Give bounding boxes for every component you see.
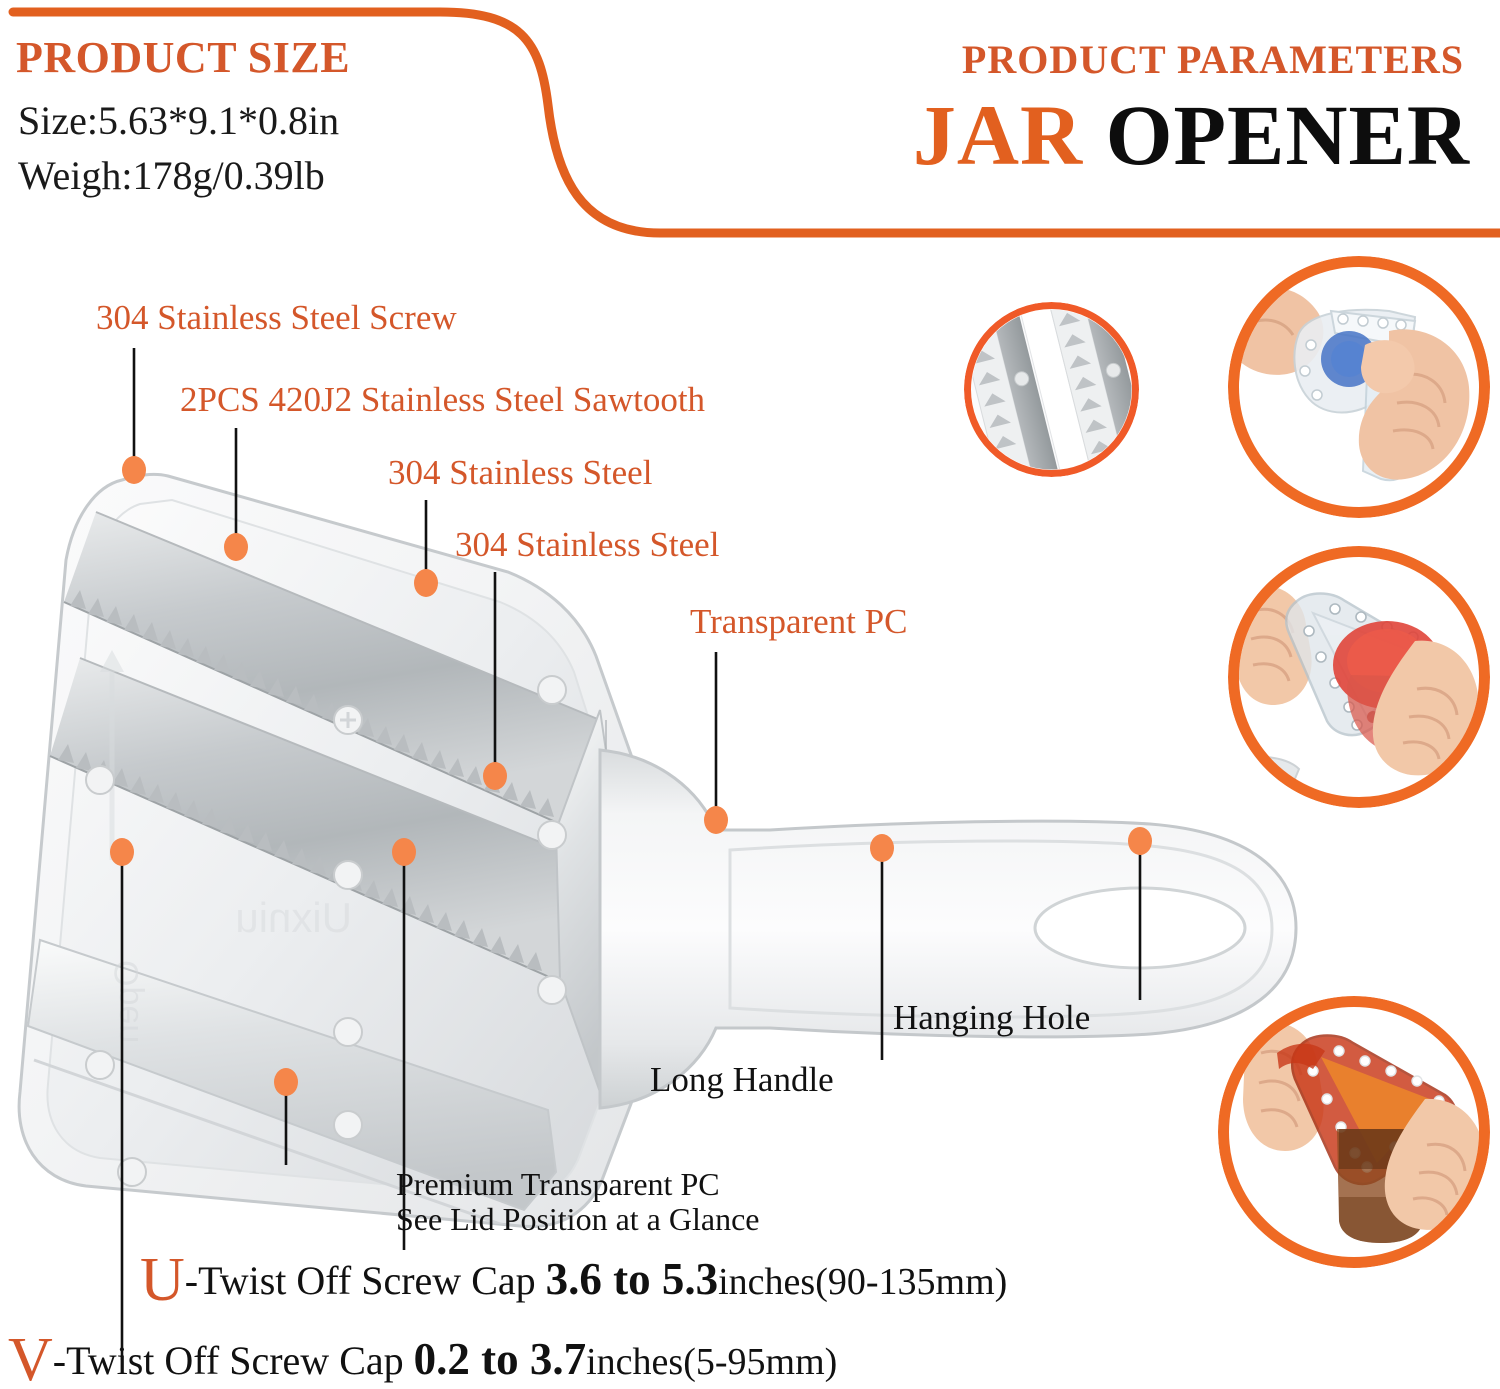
spec-u-metric: (90-135mm): [815, 1261, 1007, 1303]
spec-marker-v: V: [8, 1326, 53, 1389]
spec-marker-u: U: [140, 1246, 185, 1314]
page-title-rest: OPENER: [1106, 87, 1470, 183]
callout-2pcs-420j2-sawtooth: 2PCS 420J2 Stainless Steel Sawtooth: [180, 382, 705, 419]
callout-304-stainless-steel-1: 304 Stainless Steel: [388, 455, 652, 492]
spec-u-prefix: -Twist Off Screw Cap: [185, 1258, 546, 1303]
svg-text:Open: Open: [108, 960, 146, 1043]
spec-v-prefix: -Twist Off Screw Cap: [53, 1338, 414, 1383]
spec-v-range: 0.2 to 3.7: [414, 1334, 587, 1384]
hanging-hole-shape: [1035, 888, 1245, 968]
spec-v-row: V-Twist Off Screw Cap 0.2 to 3.7inches(5…: [8, 1325, 837, 1389]
page-title: JAR OPENER: [913, 92, 1470, 178]
callout-transparent-pc: Transparent PC: [690, 604, 907, 641]
product-infographic: PRODUCT SIZE Size:5.63*9.1*0.8in Weigh:1…: [0, 0, 1500, 1389]
callout-long-handle: Long Handle: [650, 1062, 834, 1099]
inset-sawtooth-ring: [964, 302, 1139, 477]
inset-bottle-photo: [1239, 267, 1479, 507]
inset-sawtooth: [964, 302, 1139, 477]
spec-u-range: 3.6 to 5.3: [546, 1254, 719, 1304]
svg-text:Uixniu: Uixniu: [235, 894, 352, 941]
page-title-accent: JAR: [913, 87, 1083, 183]
product-size-title: PRODUCT SIZE: [16, 32, 350, 83]
spec-v-metric: (5-95mm): [683, 1341, 837, 1383]
spec-v-unit: inches: [586, 1341, 683, 1383]
premium-note-line-2: See Lid Position at a Glance: [396, 1203, 759, 1237]
product-head: Open Uixniu: [19, 474, 640, 1238]
callout-304-stainless-steel-2: 304 Stainless Steel: [455, 527, 719, 564]
product-handle: [600, 750, 1296, 1108]
product-size-dimensions: Size:5.63*9.1*0.8in: [18, 97, 339, 144]
inset-jar-red: [1228, 546, 1490, 808]
premium-note-line-1: Premium Transparent PC: [396, 1168, 720, 1202]
product-size-weight: Weigh:178g/0.39lb: [18, 152, 325, 199]
callout-304-stainless-steel-screw: 304 Stainless Steel Screw: [96, 300, 457, 337]
inset-bottle: [1228, 256, 1490, 518]
embossed-brand: Uixniu: [235, 894, 352, 941]
callout-hanging-hole: Hanging Hole: [893, 1000, 1090, 1037]
inset-jar-red-photo: [1239, 557, 1479, 797]
spec-u-row: U-Twist Off Screw Cap 3.6 to 5.3inches(9…: [140, 1245, 1007, 1316]
inset-jar-amber-photo: [1229, 1007, 1479, 1257]
inset-jar-amber: [1218, 996, 1490, 1268]
spec-u-unit: inches: [718, 1261, 815, 1303]
product-parameters-subtitle: PRODUCT PARAMETERS: [962, 36, 1464, 83]
